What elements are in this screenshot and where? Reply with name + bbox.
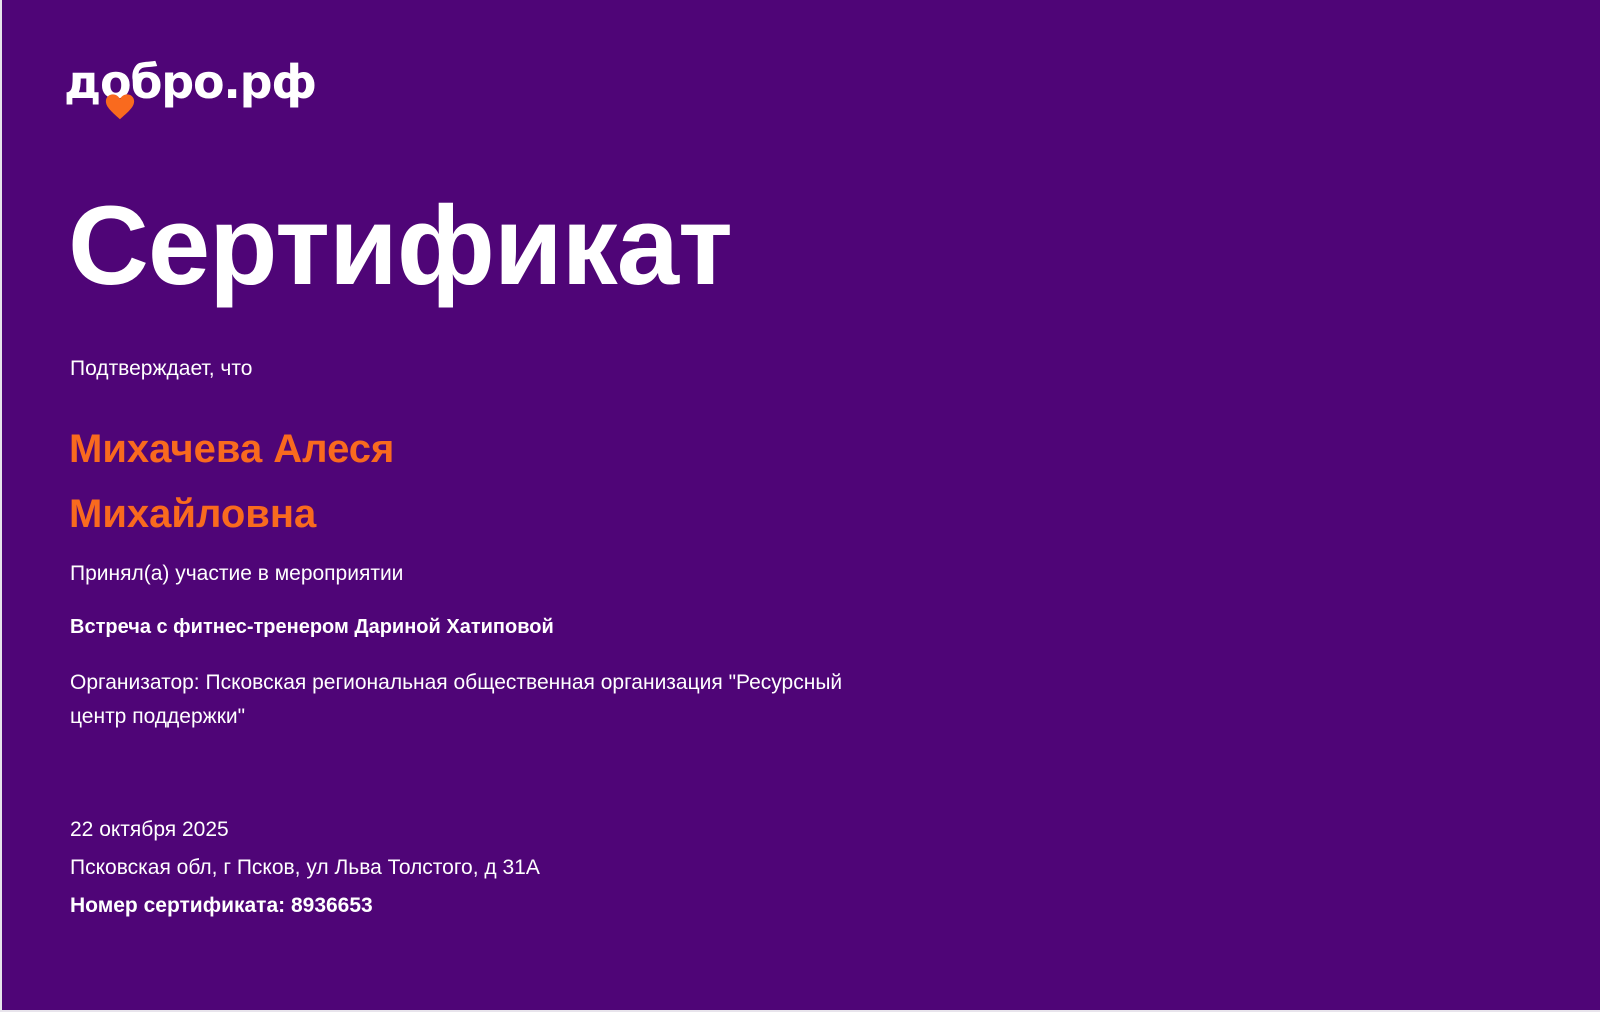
organizer-text: Организатор: Псковская региональная обще… <box>70 666 850 734</box>
page-title: Сертификат <box>68 186 732 306</box>
dobro-rf-logo[interactable]: добро.рф <box>64 56 316 114</box>
heart-icon <box>105 94 135 120</box>
confirms-label: Подтверждает, что <box>70 355 252 383</box>
recipient-name: Михачева Алеся Михайловна <box>69 417 629 547</box>
logo-wordmark: добро.рф <box>64 56 316 108</box>
issue-date: 22 октября 2025 <box>70 811 970 849</box>
certificate-footer: 22 октября 2025 Псковская обл, г Псков, … <box>70 811 970 925</box>
venue-address: Псковская обл, г Псков, ул Льва Толстого… <box>70 849 970 887</box>
event-name: Встреча с фитнес-тренером Дариной Хатипо… <box>70 614 970 641</box>
certificate-page: добро.рф Сертификат Подтверждает, что Ми… <box>0 0 1600 1012</box>
participation-label: Принял(а) участие в мероприятии <box>70 560 403 588</box>
certificate-number: Номер сертификата: 8936653 <box>70 887 970 925</box>
